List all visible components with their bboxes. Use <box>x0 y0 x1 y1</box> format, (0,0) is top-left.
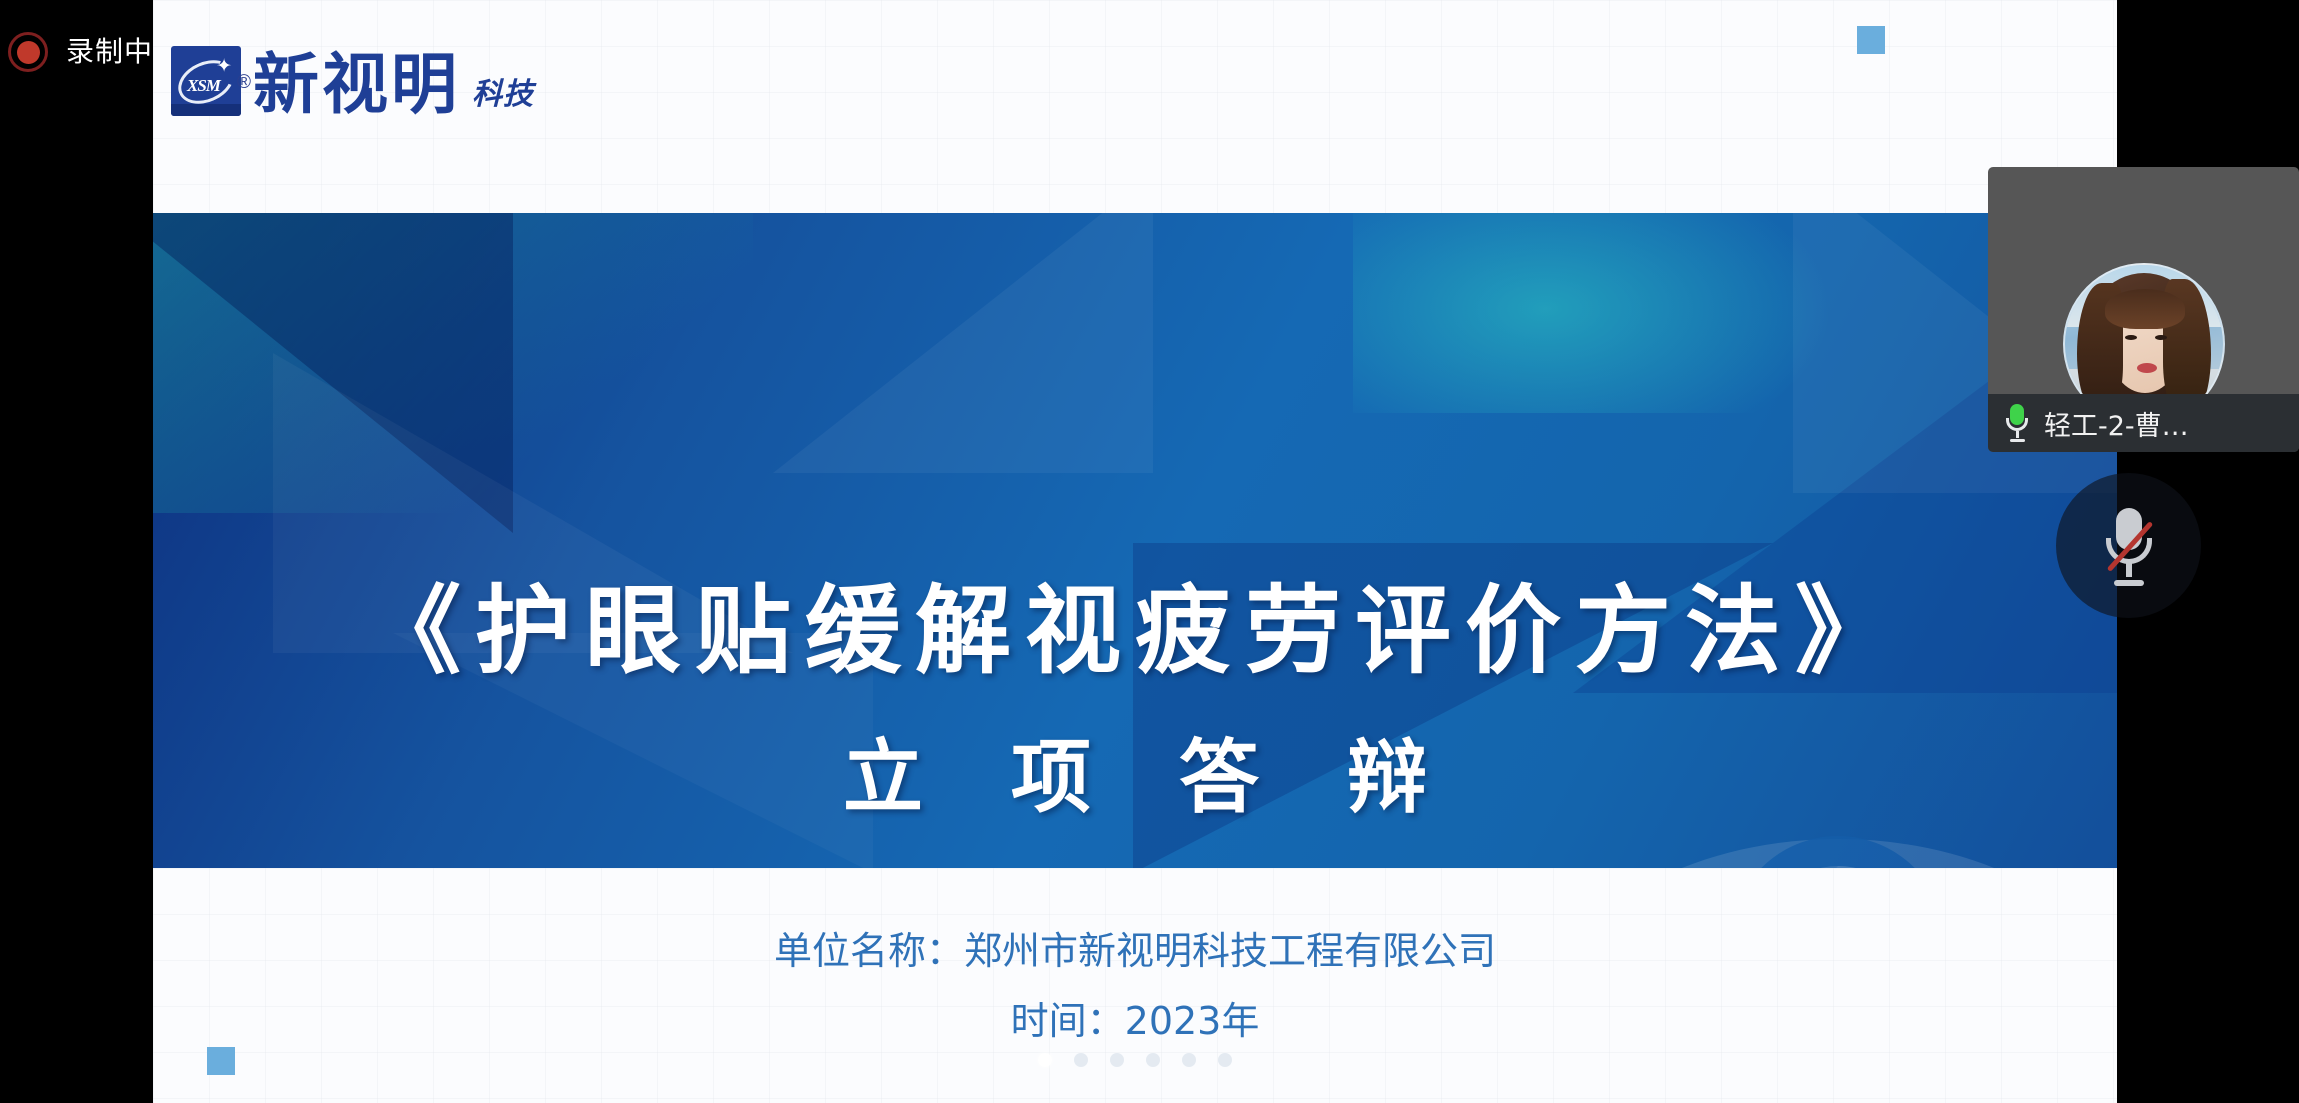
poly-teal-2 <box>1353 213 1833 413</box>
footer-dot <box>1182 1053 1196 1067</box>
microphone-icon[interactable] <box>2004 404 2030 442</box>
xsm-logo-mark-icon: ✦ XSM <box>171 46 241 116</box>
footer-date-line: 时间：2023年 <box>153 990 2117 1045</box>
company-name-cn: 新视明 <box>253 55 460 116</box>
participant-name: 轻工-2-曹… <box>2044 404 2189 443</box>
slide-header: ✦ XSM ® 新视明 科技 <box>153 0 2117 213</box>
slide-subtitle: 立项答辩 <box>153 713 2117 829</box>
participant-tile[interactable]: 轻工-2-曹… <box>1988 167 2299 452</box>
registered-mark: ® <box>237 72 251 94</box>
company-logo: ✦ XSM ® 新视明 科技 <box>171 46 534 116</box>
slide-title: 《护眼贴缓解视疲劳评价方法》 <box>153 553 2117 692</box>
poly-3 <box>773 213 1153 473</box>
record-dot-icon <box>8 32 48 72</box>
star-icon: ✦ <box>216 57 232 76</box>
avatar-eye-right <box>2155 335 2167 340</box>
avatar-lips <box>2137 363 2157 373</box>
footer-dot <box>1218 1053 1232 1067</box>
logo-mark-text: XSM <box>187 76 220 96</box>
shared-screen-slide[interactable]: ✦ XSM ® 新视明 科技 <box>153 0 2117 1103</box>
footer-dot <box>1146 1053 1160 1067</box>
microphone-muted-icon <box>2102 506 2156 586</box>
slide-footer: 单位名称：郑州市新视明科技工程有限公司 时间：2023年 <box>153 868 2117 1103</box>
footer-dot <box>1074 1053 1088 1067</box>
mute-button[interactable] <box>2056 473 2201 618</box>
company-name-suffix: 科技 <box>472 80 534 116</box>
meeting-screen: ✦ XSM ® 新视明 科技 <box>0 0 2299 1103</box>
avatar-eye-left <box>2125 335 2137 340</box>
participant-name-bar: 轻工-2-曹… <box>1988 394 2299 452</box>
recording-badge: 录制中 <box>8 32 153 72</box>
footer-dots <box>153 1053 2117 1067</box>
footer-org-line: 单位名称：郑州市新视明科技工程有限公司 <box>153 920 2117 975</box>
footer-dot <box>1110 1053 1124 1067</box>
logo-mark-base <box>171 104 241 116</box>
poly-teal-1 <box>153 213 753 513</box>
footer-dot <box>1038 1053 1052 1067</box>
slide-hero-band: 《护眼贴缓解视疲劳评价方法》 立项答辩 <box>153 213 2117 868</box>
avatar-fringe <box>2105 289 2185 329</box>
poly-1 <box>153 213 513 533</box>
recording-label: 录制中 <box>66 38 153 66</box>
